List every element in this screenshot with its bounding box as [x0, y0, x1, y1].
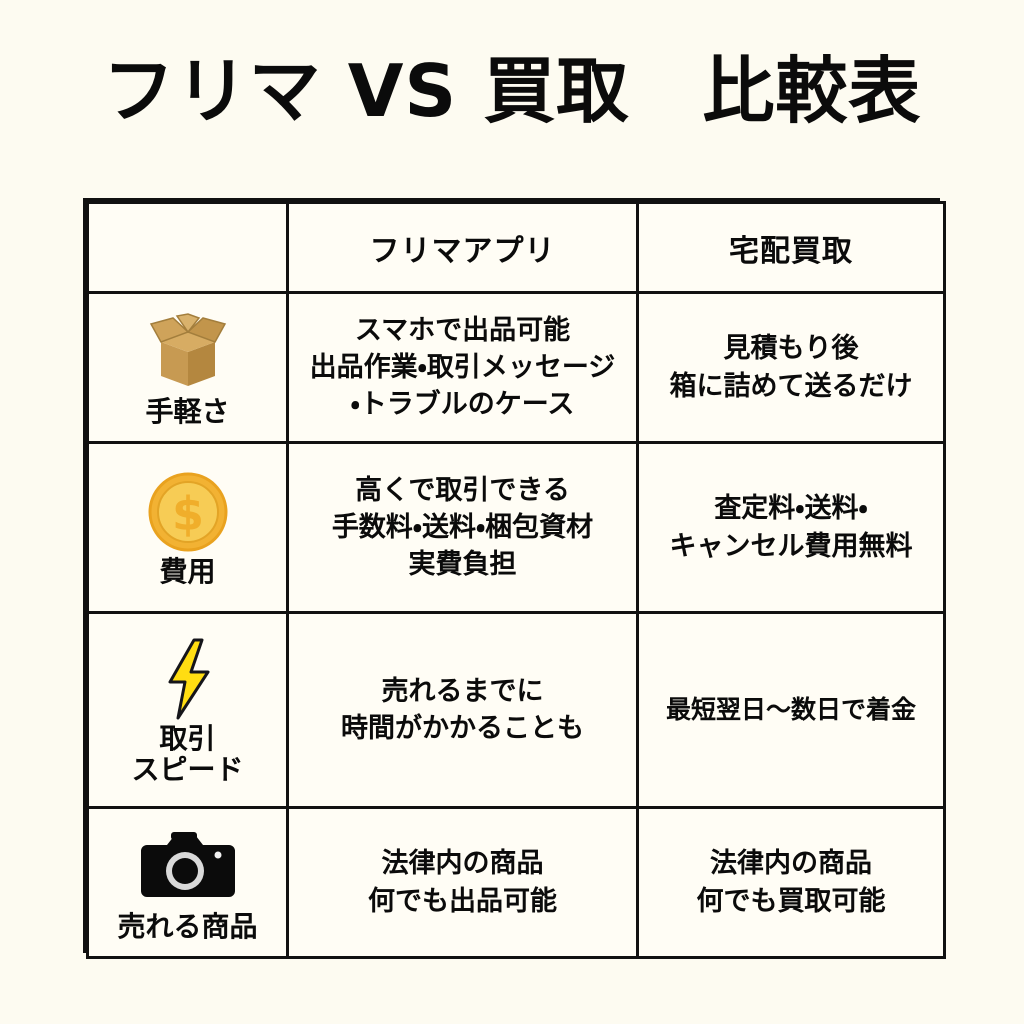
- cell-delivery-buy-ease: 見積もり後 箱に詰めて送るだけ: [638, 293, 945, 443]
- cell-flea-app-speed: 売れるまでに 時間がかかることも: [288, 613, 638, 808]
- row-label-text: 取引 スピード: [95, 723, 280, 786]
- cell-delivery-buy-speed: 最短翌日〜数日で着金: [638, 613, 945, 808]
- table-row: 手軽さ スマホで出品可能 出品作業・取引メッセージ ・トラブルのケース 見積もり…: [88, 293, 945, 443]
- camera-icon: [95, 823, 280, 909]
- row-label-cell-cost: $ 費用: [88, 443, 288, 613]
- cell-delivery-buy-items: 法律内の商品 何でも買取可能: [638, 808, 945, 958]
- header-blank-cell: [88, 203, 288, 293]
- comparison-table: フリマアプリ 宅配買取: [86, 201, 946, 959]
- table-header-row: フリマアプリ 宅配買取: [88, 203, 945, 293]
- row-label-cell-ease: 手軽さ: [88, 293, 288, 443]
- comparison-infographic: フリマ VS 買取 比較表 フリマアプリ 宅配買取: [0, 0, 1024, 1024]
- row-label-cell-speed: 取引 スピード: [88, 613, 288, 808]
- lightning-bolt-icon: [95, 635, 280, 721]
- header-flea-app: フリマアプリ: [288, 203, 638, 293]
- cell-flea-app-ease: スマホで出品可能 出品作業・取引メッセージ ・トラブルのケース: [288, 293, 638, 443]
- cell-flea-app-items: 法律内の商品 何でも出品可能: [288, 808, 638, 958]
- page-title: フリマ VS 買取 比較表: [0, 52, 1024, 131]
- comparison-table-container: フリマアプリ 宅配買取: [83, 198, 940, 953]
- table-row: $ 費用 高くで取引できる 手数料・送料・梱包資材 実費負担 査定料・送料・ キ…: [88, 443, 945, 613]
- svg-text:$: $: [171, 487, 203, 541]
- header-delivery-buy: 宅配買取: [638, 203, 945, 293]
- row-label-text: 費用: [95, 556, 280, 587]
- row-label-cell-items: 売れる商品: [88, 808, 288, 958]
- cell-flea-app-cost: 高くで取引できる 手数料・送料・梱包資材 実費負担: [288, 443, 638, 613]
- row-label-text: 売れる商品: [95, 911, 280, 942]
- gold-coin-icon: $: [95, 468, 280, 554]
- row-label-text: 手軽さ: [95, 396, 280, 427]
- table-row: 売れる商品 法律内の商品 何でも出品可能 法律内の商品 何でも買取可能: [88, 808, 945, 958]
- cell-delivery-buy-cost: 査定料・送料・ キャンセル費用無料: [638, 443, 945, 613]
- table-row: 取引 スピード 売れるまでに 時間がかかることも 最短翌日〜数日で着金: [88, 613, 945, 808]
- open-box-icon: [95, 308, 280, 394]
